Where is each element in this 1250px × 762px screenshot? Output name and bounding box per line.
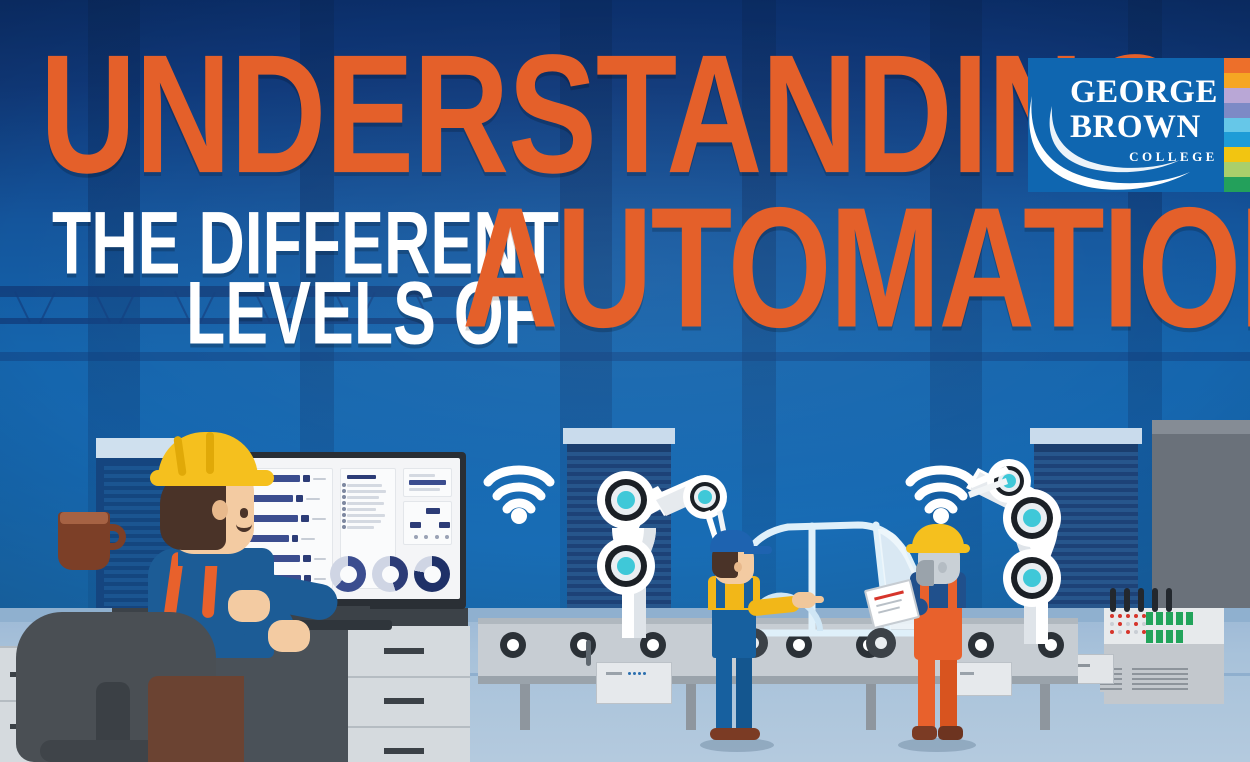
george-brown-college-logo[interactable]: GEORGE BROWN COLLEGE [1028, 58, 1250, 192]
tree-leaf [445, 535, 449, 539]
car-wheel [866, 628, 896, 658]
panel-vent [1132, 668, 1188, 692]
cabinet-handle [384, 698, 424, 704]
operator-hand [228, 590, 270, 622]
conveyor-roller [500, 632, 526, 658]
machine-cabinet-top [1030, 428, 1142, 444]
operator-nose-shadow [240, 508, 248, 518]
cabinet-edge [348, 676, 470, 678]
logo-color-bar [1224, 73, 1250, 88]
monitor-base [296, 620, 392, 630]
cabinet-edge [348, 726, 470, 728]
conveyor-leg [866, 684, 876, 730]
logo-main: GEORGE BROWN COLLEGE [1028, 58, 1224, 192]
operator-hand [268, 620, 310, 652]
conveyor-control-box [596, 662, 672, 704]
headline-line-4: AUTOMATION [462, 200, 1250, 337]
control-box-label [960, 672, 974, 675]
logo-color-bar [1224, 103, 1250, 118]
dashboard-stat-panel [403, 468, 452, 497]
control-box-leds [628, 672, 646, 675]
cable [1152, 588, 1158, 612]
dashboard-tree-panel [403, 501, 452, 545]
logo-color-bar [1224, 88, 1250, 103]
gauge-blocks [1146, 630, 1183, 643]
worker-shadow [700, 738, 774, 752]
donut-chart [330, 556, 366, 592]
hard-hat-brim [906, 544, 970, 553]
conveyor-leg [686, 684, 696, 730]
mug-rim [60, 512, 108, 524]
conveyor-leg [1040, 684, 1050, 730]
worker-leg [736, 650, 752, 734]
cabinet-handle [384, 648, 424, 654]
robot-joint [600, 474, 652, 526]
logo-color-bar [1224, 147, 1250, 162]
filing-cabinet [348, 626, 470, 762]
equipment-tower-top [1152, 420, 1250, 434]
logo-color-bar [1224, 132, 1250, 147]
operator-ear [212, 500, 228, 520]
donut-chart [414, 556, 450, 592]
worker-boot [710, 728, 760, 740]
control-box-label [606, 672, 622, 675]
logo-wordmark: GEORGE BROWN COLLEGE [1070, 76, 1218, 165]
tree-leaf [435, 535, 439, 539]
logo-word-brown: BROWN [1070, 111, 1218, 144]
wifi-icon [902, 452, 980, 524]
gauge-blocks [1146, 612, 1193, 625]
worker-ear [734, 562, 742, 572]
conveyor-control-box [950, 662, 1012, 696]
cap-brim [744, 546, 772, 554]
worker-boot [938, 726, 963, 740]
tree-node [426, 508, 440, 514]
robot-joint [1006, 552, 1058, 604]
control-box-cable [586, 640, 591, 666]
tree-leaf [424, 535, 428, 539]
logo-word-college: COLLEGE [1070, 149, 1218, 165]
tree-node [439, 522, 450, 528]
worker-ear [938, 562, 947, 573]
logo-color-bar [1224, 58, 1250, 73]
cable [1166, 588, 1172, 612]
donut-chart [372, 556, 408, 592]
worker-boot [912, 726, 937, 740]
logo-color-bar [1224, 118, 1250, 133]
worker-hair [916, 560, 934, 586]
headline-line-1: UNDERSTANDING [40, 48, 1185, 183]
tree-node [410, 522, 421, 528]
infographic-header: UNDERSTANDING THE DIFFERENT LEVELS OF AU… [0, 0, 1250, 762]
wifi-icon [480, 452, 558, 524]
conveyor-leg [520, 684, 530, 730]
logo-color-bar [1224, 177, 1250, 192]
machine-cabinet-top [563, 428, 675, 444]
logo-word-george: GEORGE [1070, 76, 1218, 109]
worker-finger [810, 596, 824, 603]
worker-leg [716, 650, 732, 734]
worker-shadow [898, 738, 976, 752]
operator-lower-body [148, 676, 244, 762]
robot-joint [600, 540, 652, 592]
cabinet-handle [384, 748, 424, 754]
worker-leg [940, 648, 957, 734]
tree-leaf [414, 535, 418, 539]
logo-color-bars [1224, 58, 1250, 192]
cable [1138, 588, 1144, 612]
logo-color-bar [1224, 162, 1250, 177]
hard-hat-rib [206, 432, 214, 474]
worker-leg [918, 648, 935, 734]
